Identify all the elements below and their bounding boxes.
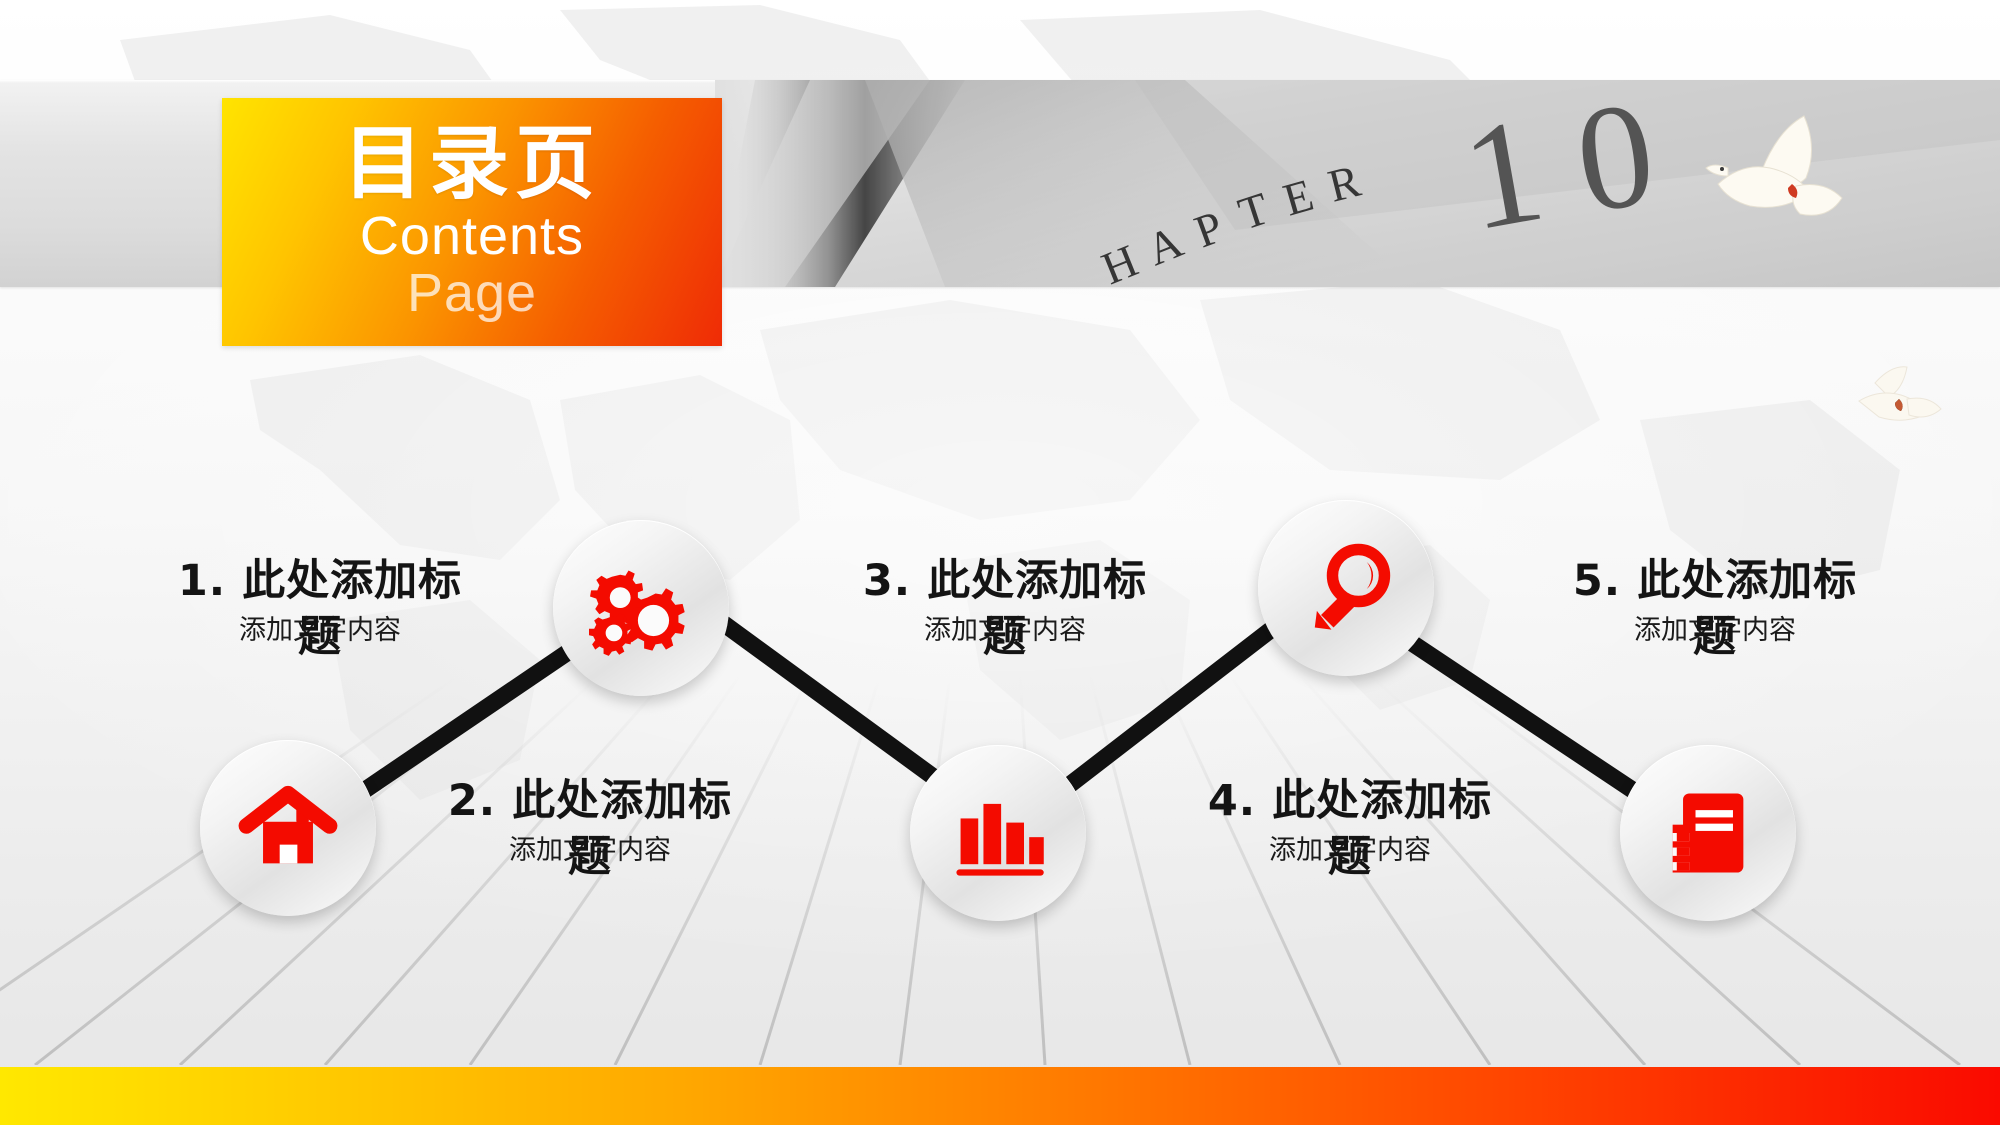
bar-chart-icon	[946, 781, 1050, 885]
item-number-5: 5.	[1573, 556, 1621, 606]
item-title-overflow-1: 题	[90, 602, 550, 664]
item-title-text-5: 此处添加标	[1637, 556, 1857, 606]
node-3[interactable]	[910, 745, 1086, 921]
node-5[interactable]	[1620, 745, 1796, 921]
node-1[interactable]	[200, 740, 376, 916]
item-title-text-1: 此处添加标	[242, 556, 462, 606]
item-title-overflow-4: 题	[1120, 822, 1580, 884]
item-title-text-3: 此处添加标	[927, 556, 1147, 606]
item-label-2: 2. 此处添加标 添加文字内容 题	[360, 780, 820, 870]
item-title-1: 1. 此处添加标	[90, 560, 550, 604]
node-4[interactable]	[1258, 500, 1434, 676]
item-number-2: 2.	[448, 776, 496, 826]
magnifier-icon	[1294, 536, 1398, 640]
item-title-overflow-2: 题	[360, 822, 820, 884]
item-label-4: 4. 此处添加标 添加文字内容 题	[1120, 780, 1580, 870]
item-label-3: 3. 此处添加标 添加文字内容 题	[775, 560, 1235, 650]
gears-icon	[589, 556, 693, 660]
home-icon	[236, 776, 340, 880]
item-label-1: 1. 此处添加标 添加文字内容 题	[90, 560, 550, 650]
node-2[interactable]	[553, 520, 729, 696]
item-title-4: 4. 此处添加标	[1120, 780, 1580, 824]
notebook-icon	[1656, 781, 1760, 885]
item-number-4: 4.	[1208, 776, 1256, 826]
item-title-overflow-3: 题	[775, 602, 1235, 664]
item-title-text-2: 此处添加标	[512, 776, 732, 826]
item-title-text-4: 此处添加标	[1272, 776, 1492, 826]
item-title-2: 2. 此处添加标	[360, 780, 820, 824]
item-label-5: 5. 此处添加标 添加文字内容 题	[1485, 560, 1945, 650]
item-number-3: 3.	[863, 556, 911, 606]
bottom-accent-bar	[0, 1067, 2000, 1125]
slide-canvas: H A P T E R 1 0	[0, 0, 2000, 1125]
item-number-1: 1.	[178, 556, 226, 606]
item-title-5: 5. 此处添加标	[1485, 560, 1945, 604]
item-title-3: 3. 此处添加标	[775, 560, 1235, 604]
item-title-overflow-5: 题	[1485, 602, 1945, 664]
